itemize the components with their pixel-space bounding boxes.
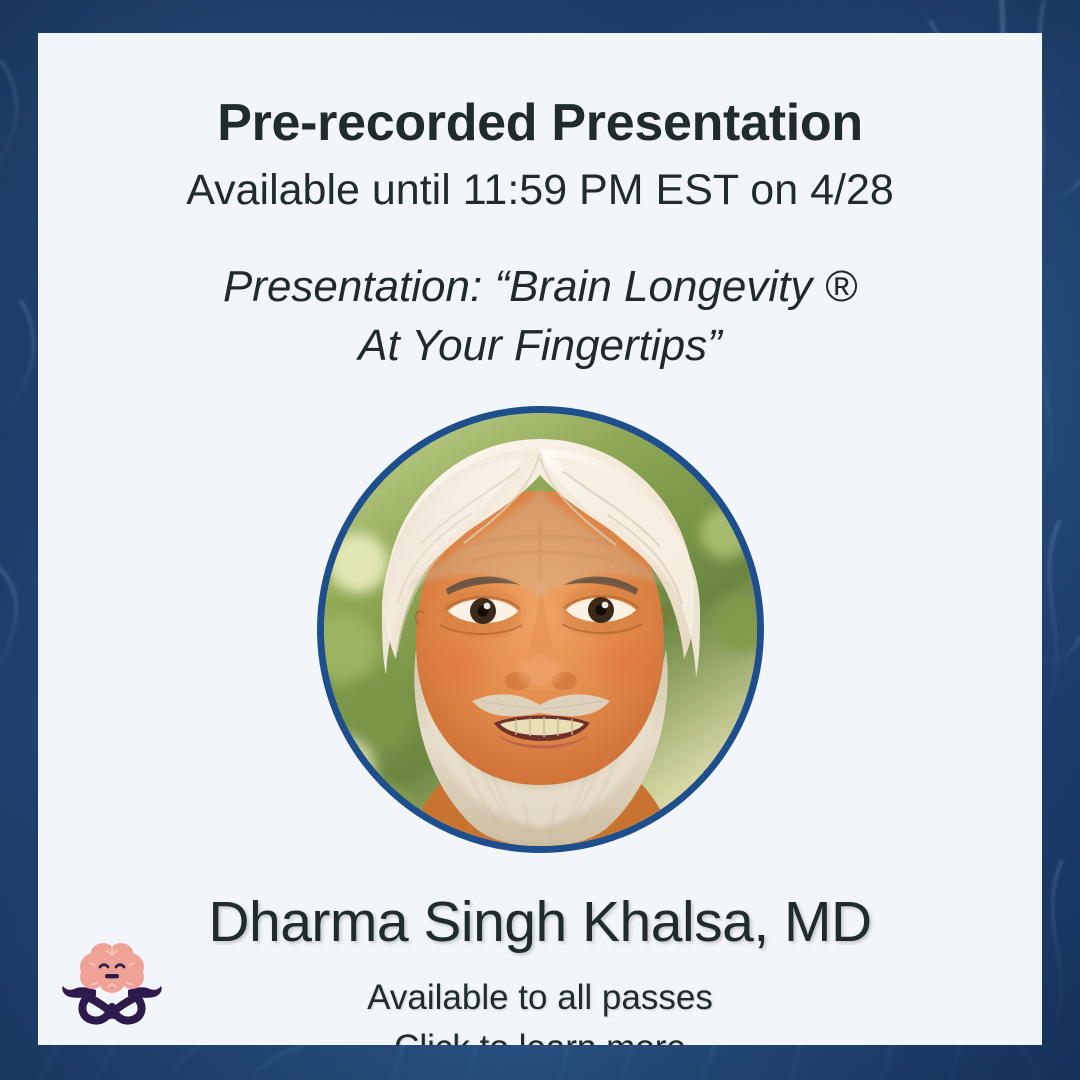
speaker-name: Dharma Singh Khalsa, MD (208, 889, 871, 955)
meditating-brain-logo[interactable] (58, 927, 166, 1035)
note-line-2: Click to learn more (367, 1023, 713, 1045)
talk-title: Presentation: “Brain Longevity ® At Your… (223, 258, 857, 376)
availability-text: Available until 11:59 PM EST on 4/28 (186, 167, 894, 214)
page-title: Pre-recorded Presentation (217, 95, 863, 151)
portrait-illustration (324, 413, 757, 846)
talk-title-line-1: Presentation: “Brain Longevity ® (223, 258, 857, 317)
content-card[interactable]: Pre-recorded Presentation Available unti… (38, 33, 1042, 1045)
portrait-ring (317, 406, 764, 853)
poster-root: Pre-recorded Presentation Available unti… (0, 0, 1080, 1080)
speaker-portrait[interactable] (317, 406, 764, 853)
talk-title-line-2: At Your Fingertips” (223, 317, 857, 376)
note-line-1: Available to all passes (367, 973, 713, 1023)
speaker-note: Available to all passes Click to learn m… (367, 973, 713, 1045)
meditating-brain-icon (58, 927, 166, 1035)
